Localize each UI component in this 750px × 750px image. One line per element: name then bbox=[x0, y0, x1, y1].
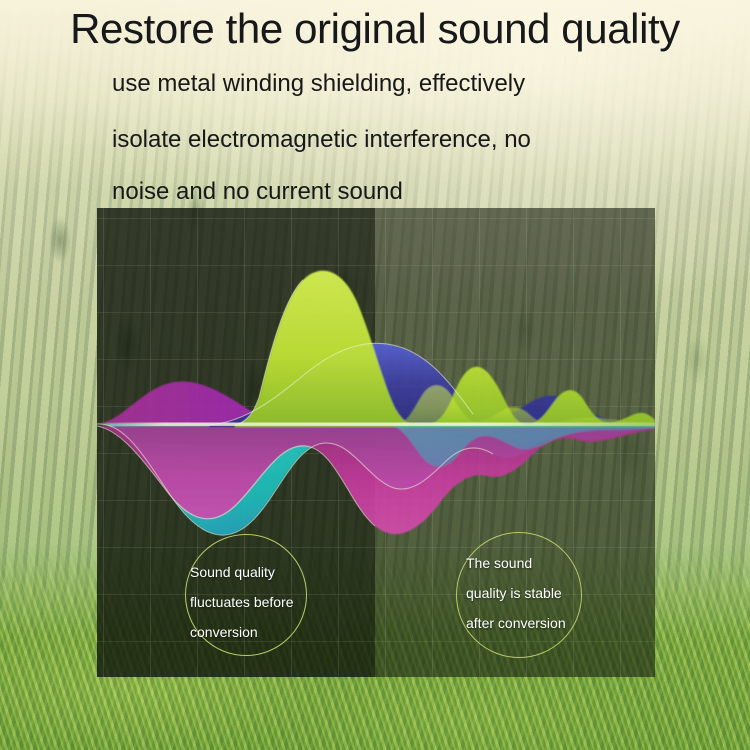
page-title: Restore the original sound quality bbox=[0, 6, 750, 51]
callout-after-line-1: The sound bbox=[466, 548, 566, 578]
wave-band-magenta bbox=[97, 425, 655, 534]
subheading-line-3: noise and no current sound bbox=[112, 180, 403, 204]
callout-before-line-1: Sound quality bbox=[190, 557, 294, 587]
callout-before-line-3: conversion bbox=[190, 617, 294, 647]
subheading-line-1: use metal winding shielding, effectively bbox=[112, 72, 525, 96]
promo-banner: Restore the original sound quality use m… bbox=[0, 0, 750, 750]
callout-text-after: The sound quality is stable after conver… bbox=[466, 548, 566, 638]
waveform-center-axis bbox=[97, 423, 655, 426]
callout-before-line-2: fluctuates before bbox=[190, 587, 294, 617]
callout-after-line-2: quality is stable bbox=[466, 578, 566, 608]
callout-after-line-3: after conversion bbox=[466, 608, 566, 638]
subheading-line-2: isolate electromagnetic interference, no bbox=[112, 128, 531, 152]
callout-text-before: Sound quality fluctuates before conversi… bbox=[190, 557, 294, 647]
